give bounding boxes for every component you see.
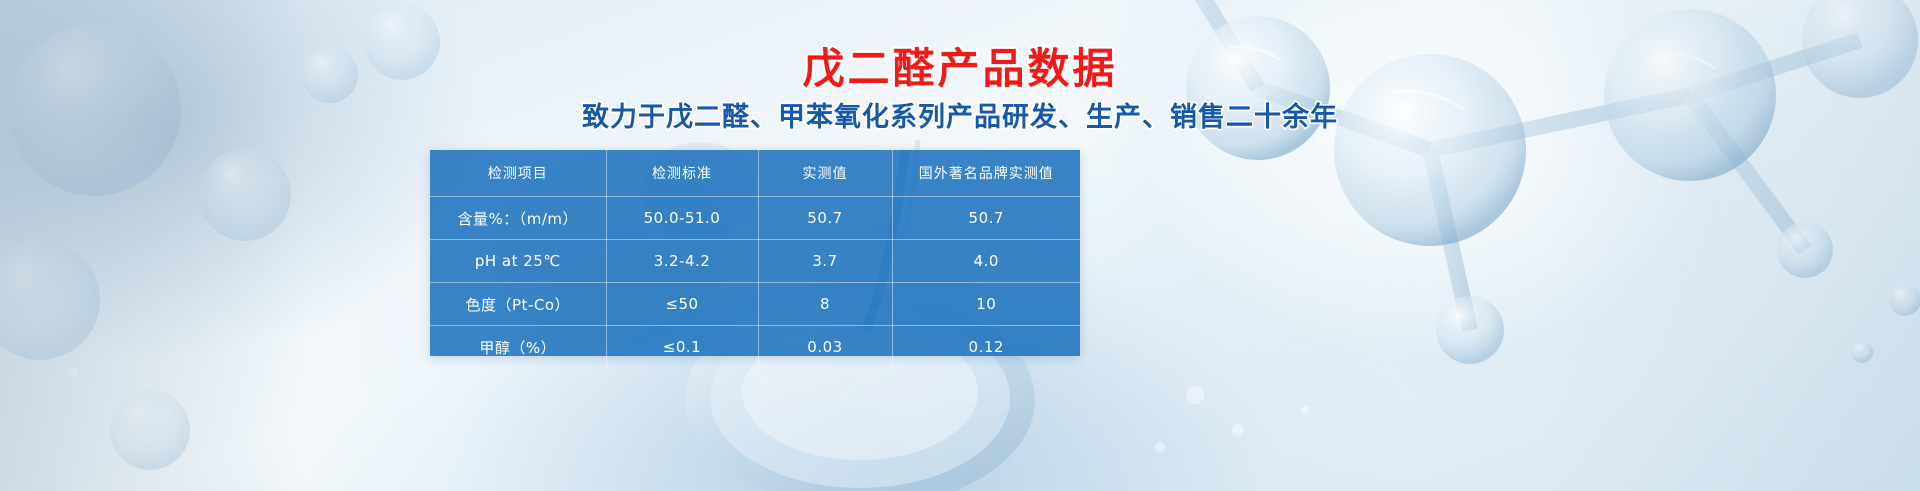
cell-item: pH at 25℃ bbox=[430, 240, 606, 283]
table-header-row: 检测项目 检测标准 实测值 国外著名品牌实测值 bbox=[430, 150, 1080, 197]
table-header: 检测项目 检测标准 实测值 国外著名品牌实测值 bbox=[430, 150, 1080, 197]
cell-measured: 3.7 bbox=[758, 240, 892, 283]
page-title: 戊二醛产品数据 bbox=[0, 48, 1920, 90]
page-subtitle: 致力于戊二醛、甲苯氧化系列产品研发、生产、销售二十余年 bbox=[0, 104, 1920, 131]
table-row: 色度（Pt-Co） ≤50 8 10 bbox=[430, 283, 1080, 326]
cell-measured: 0.03 bbox=[758, 326, 892, 369]
cell-measured: 8 bbox=[758, 283, 892, 326]
cell-standard: 50.0-51.0 bbox=[606, 197, 758, 240]
table-row: 甲醇（%） ≤0.1 0.03 0.12 bbox=[430, 326, 1080, 369]
product-data-table-container: 检测项目 检测标准 实测值 国外著名品牌实测值 含量%：（m/m） 50.0-5… bbox=[430, 150, 1080, 356]
cell-standard: ≤50 bbox=[606, 283, 758, 326]
cell-foreign: 10 bbox=[892, 283, 1080, 326]
product-data-banner: 戊二醛产品数据 致力于戊二醛、甲苯氧化系列产品研发、生产、销售二十余年 检测项目… bbox=[0, 0, 1920, 491]
column-header-standard: 检测标准 bbox=[606, 150, 758, 197]
cell-item: 甲醇（%） bbox=[430, 326, 606, 369]
cell-standard: 3.2-4.2 bbox=[606, 240, 758, 283]
cell-item: 含量%：（m/m） bbox=[430, 197, 606, 240]
cell-foreign: 50.7 bbox=[892, 197, 1080, 240]
table-body: 含量%：（m/m） 50.0-51.0 50.7 50.7 pH at 25℃ … bbox=[430, 197, 1080, 369]
cell-foreign: 4.0 bbox=[892, 240, 1080, 283]
column-header-measured: 实测值 bbox=[758, 150, 892, 197]
cell-measured: 50.7 bbox=[758, 197, 892, 240]
column-header-foreign: 国外著名品牌实测值 bbox=[892, 150, 1080, 197]
cell-foreign: 0.12 bbox=[892, 326, 1080, 369]
cell-standard: ≤0.1 bbox=[606, 326, 758, 369]
banner-heading-group: 戊二醛产品数据 致力于戊二醛、甲苯氧化系列产品研发、生产、销售二十余年 bbox=[0, 48, 1920, 131]
cell-item: 色度（Pt-Co） bbox=[430, 283, 606, 326]
table-row: 含量%：（m/m） 50.0-51.0 50.7 50.7 bbox=[430, 197, 1080, 240]
product-data-table: 检测项目 检测标准 实测值 国外著名品牌实测值 含量%：（m/m） 50.0-5… bbox=[430, 150, 1080, 368]
table-row: pH at 25℃ 3.2-4.2 3.7 4.0 bbox=[430, 240, 1080, 283]
column-header-item: 检测项目 bbox=[430, 150, 606, 197]
